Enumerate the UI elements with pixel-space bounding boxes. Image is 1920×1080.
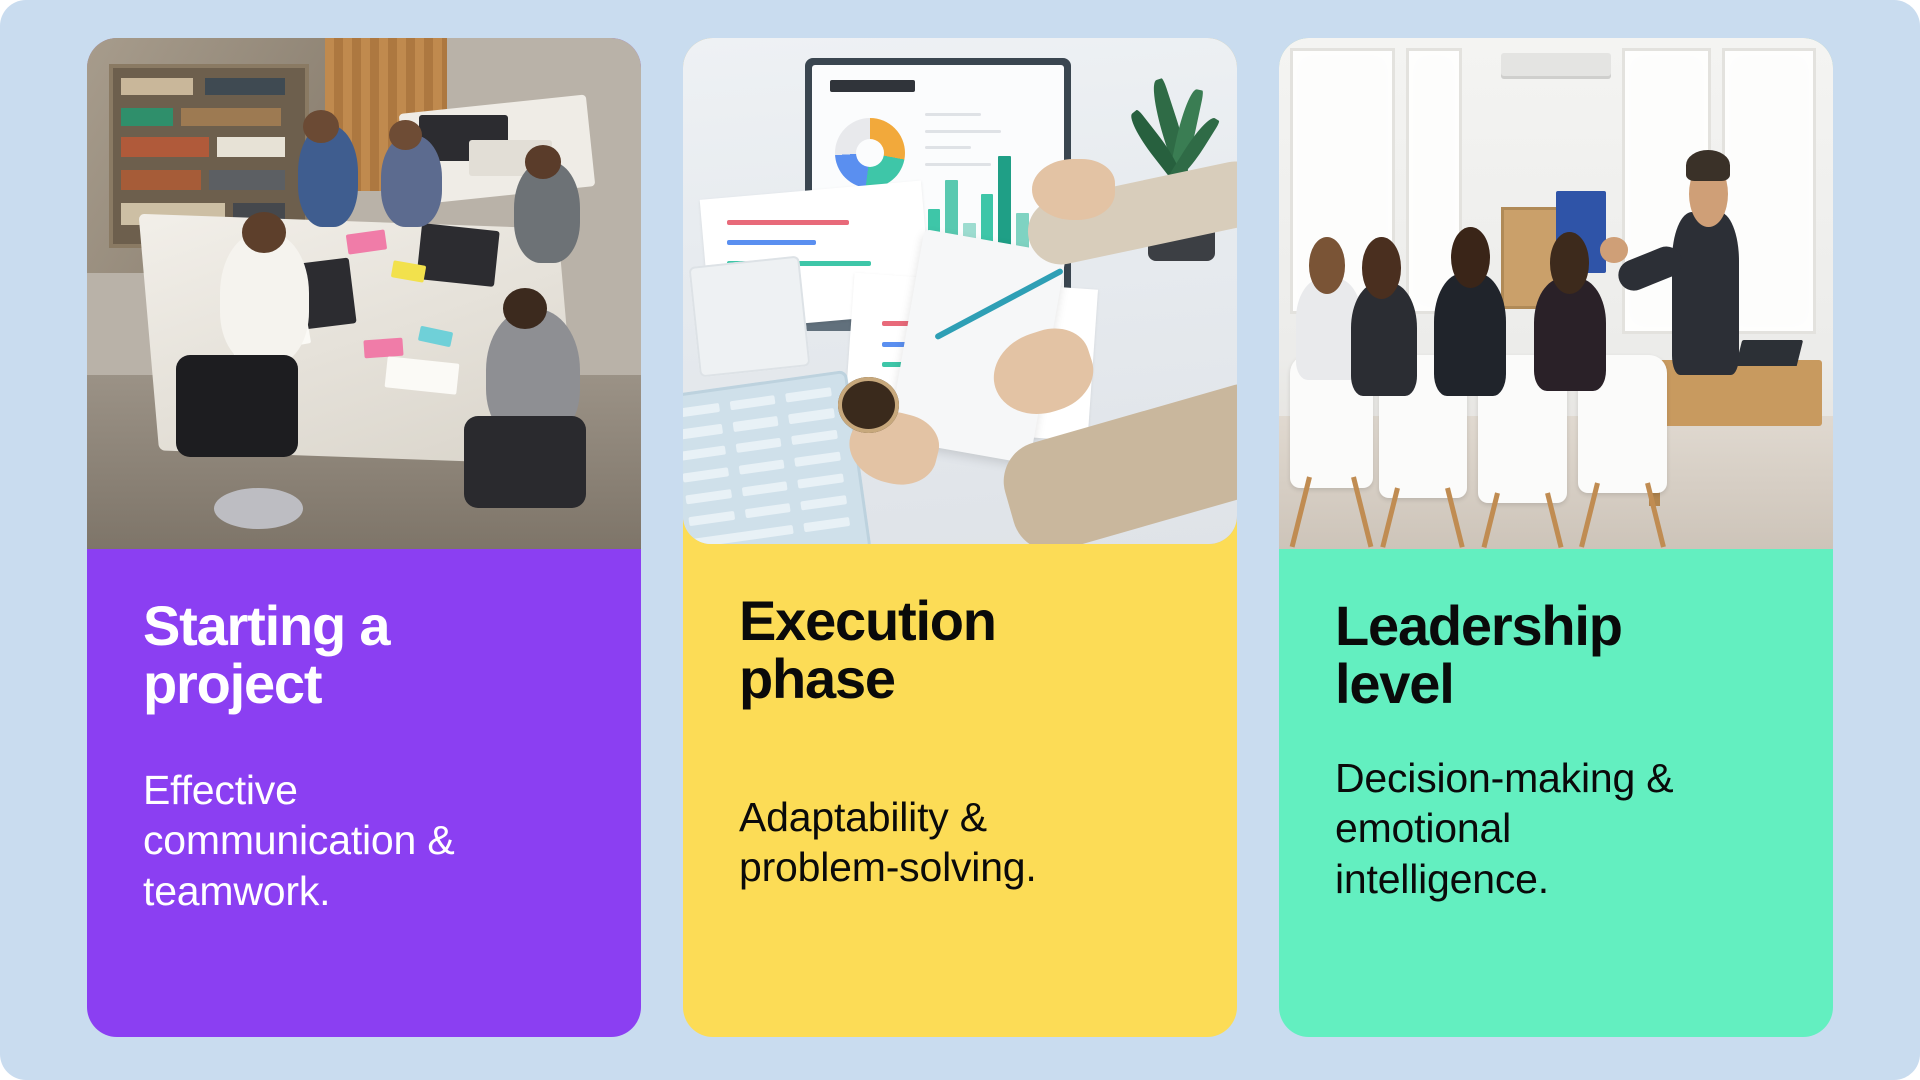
card-execution-phase[interactable]: Execution phase Adaptability & problem-s… (683, 38, 1237, 1037)
office-team-meeting-photo (87, 38, 641, 549)
card-photo-execution-phase (683, 38, 1237, 544)
card-title-leadership-level: Leadership level (1335, 597, 1777, 713)
card-body-execution-phase: Execution phase Adaptability & problem-s… (683, 544, 1237, 1037)
card-photo-leadership-level (1279, 38, 1833, 549)
card-description-leadership-level: Decision-making & emotional intelligence… (1335, 753, 1777, 903)
card-description-starting-a-project: Effective communication & teamwork. (143, 765, 585, 915)
card-row: Starting a project Effective communicati… (0, 0, 1920, 1080)
meeting-room-presentation-photo (1279, 38, 1833, 549)
page-root: Starting a project Effective communicati… (0, 0, 1920, 1080)
card-photo-starting-a-project (87, 38, 641, 549)
card-description-execution-phase: Adaptability & problem-solving. (739, 792, 1181, 892)
card-starting-a-project[interactable]: Starting a project Effective communicati… (87, 38, 641, 1037)
card-leadership-level[interactable]: Leadership level Decision-making & emoti… (1279, 38, 1833, 1037)
card-body-leadership-level: Leadership level Decision-making & emoti… (1279, 549, 1833, 1037)
desk-tablet-analytics-photo (683, 38, 1237, 544)
card-title-starting-a-project: Starting a project (143, 597, 585, 713)
card-title-execution-phase: Execution phase (739, 592, 1181, 708)
card-body-starting-a-project: Starting a project Effective communicati… (87, 549, 641, 1037)
